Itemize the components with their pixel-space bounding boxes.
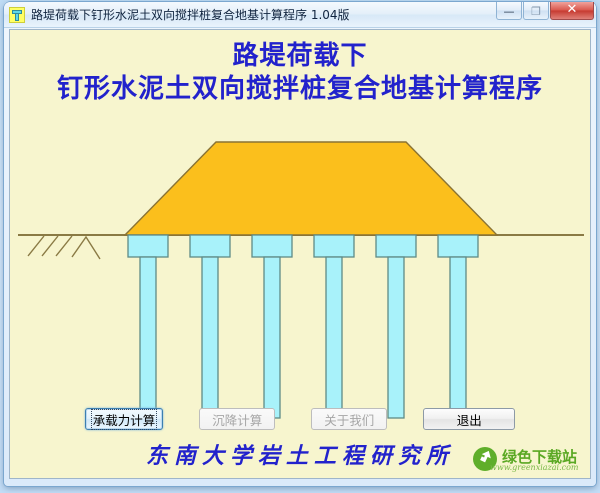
settlement-calc-button: 沉降计算 bbox=[199, 408, 275, 430]
pile-shaft-6 bbox=[450, 257, 466, 418]
desktop-background: 路堤荷载下钉形水泥土双向搅拌桩复合地基计算程序 1.04版 — ❐ ✕ 路堤荷载… bbox=[0, 0, 600, 493]
pile-shaft-5 bbox=[388, 257, 404, 418]
title-bar[interactable]: 路堤荷载下钉形水泥土双向搅拌桩复合地基计算程序 1.04版 — ❐ ✕ bbox=[4, 2, 596, 28]
ground-hatch-1 bbox=[28, 236, 44, 256]
nail-pile-icon bbox=[9, 7, 25, 23]
pile-4 bbox=[314, 235, 354, 418]
bearing-capacity-button-label: 承载力计算 bbox=[92, 410, 157, 429]
pile-shaft-3 bbox=[264, 257, 280, 418]
ground-hatch-3 bbox=[56, 236, 72, 256]
window-title: 路堤荷载下钉形水泥土双向搅拌桩复合地基计算程序 1.04版 bbox=[31, 6, 350, 23]
pile-shaft-2 bbox=[202, 257, 218, 418]
pile-group bbox=[128, 235, 478, 418]
maximize-icon: ❐ bbox=[524, 6, 548, 17]
close-icon: ✕ bbox=[551, 4, 593, 15]
pile-head-4 bbox=[314, 235, 354, 257]
client-area: 路堤荷载下 钉形水泥土双向搅拌桩复合地基计算程序 承载力计算沉降计算关于我们退出… bbox=[9, 29, 591, 479]
about-us-button-label: 关于我们 bbox=[324, 410, 374, 429]
ground-hatch-2 bbox=[42, 236, 58, 256]
pile-5 bbox=[376, 235, 416, 418]
watermark-url: www.greenxiazai.com bbox=[490, 463, 579, 472]
embankment-trapezoid bbox=[125, 142, 497, 235]
pile-1 bbox=[128, 235, 168, 418]
minimize-icon: — bbox=[497, 6, 521, 17]
pile-head-1 bbox=[128, 235, 168, 257]
about-us-button: 关于我们 bbox=[311, 408, 387, 430]
pile-3 bbox=[252, 235, 292, 418]
window-controls: — ❐ ✕ bbox=[495, 2, 594, 20]
exit-button-label: 退出 bbox=[457, 410, 482, 429]
pile-shaft-4 bbox=[326, 257, 342, 418]
button-row: 承载力计算沉降计算关于我们退出 bbox=[10, 408, 590, 430]
application-window: 路堤荷载下钉形水泥土双向搅拌桩复合地基计算程序 1.04版 — ❐ ✕ 路堤荷载… bbox=[4, 2, 596, 486]
pile-2 bbox=[190, 235, 230, 418]
ground-line-group bbox=[18, 235, 584, 259]
maximize-button[interactable]: ❐ bbox=[523, 2, 549, 20]
watermark: 绿色下载站 www.greenxiazai.com bbox=[470, 444, 588, 478]
pile-head-6 bbox=[438, 235, 478, 257]
exit-button[interactable]: 退出 bbox=[423, 408, 515, 430]
bearing-capacity-button[interactable]: 承载力计算 bbox=[85, 408, 164, 430]
pile-shaft-1 bbox=[140, 257, 156, 418]
minimize-button[interactable]: — bbox=[496, 2, 522, 20]
embankment-group bbox=[125, 142, 497, 235]
ground-caret-symbol bbox=[72, 237, 100, 259]
pile-head-3 bbox=[252, 235, 292, 257]
pile-head-2 bbox=[190, 235, 230, 257]
close-button[interactable]: ✕ bbox=[550, 2, 594, 20]
pile-6 bbox=[438, 235, 478, 418]
pile-head-5 bbox=[376, 235, 416, 257]
settlement-calc-button-label: 沉降计算 bbox=[212, 410, 262, 429]
